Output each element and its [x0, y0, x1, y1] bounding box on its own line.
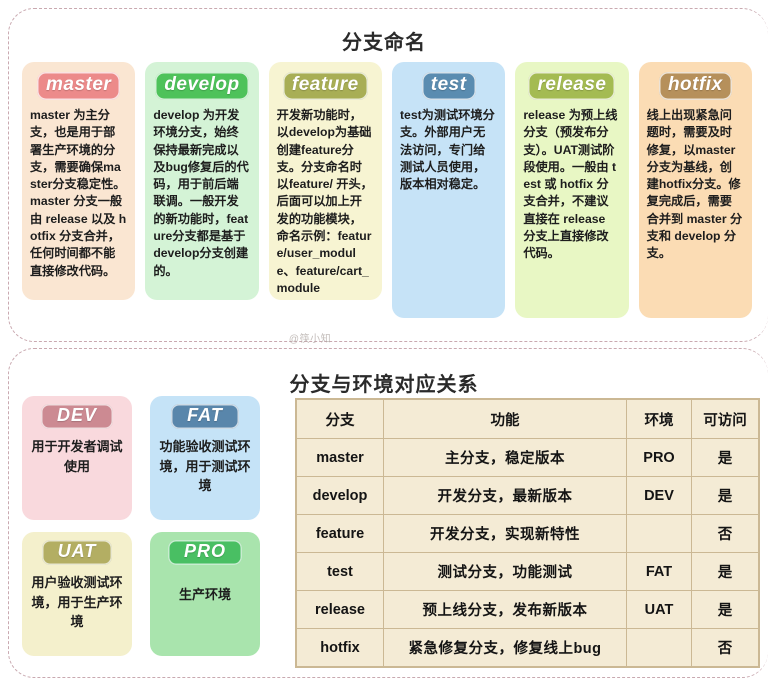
branch-card-test: testtest为测试环境分支。外部用户无法访问，专门给测试人员使用，版本相对稳…: [392, 62, 505, 318]
table-header-function: 功能: [384, 400, 627, 439]
watermark: @筷小知: [0, 330, 620, 345]
branch-badge-hotfix: hotfix: [659, 72, 732, 100]
environment-card-PRO: PRO生产环境: [150, 532, 260, 656]
page-title-branch-naming: 分支命名: [0, 26, 768, 55]
table-cell-branch: test: [297, 553, 384, 591]
table-cell-accessible: 是: [692, 477, 759, 515]
table-cell-function: 主分支，稳定版本: [384, 439, 627, 477]
table-header-row: 分支功能环境可访问: [297, 400, 759, 439]
table-cell-env: [627, 515, 692, 553]
table-cell-accessible: 否: [692, 629, 759, 667]
table-cell-accessible: 是: [692, 439, 759, 477]
table-body: master主分支，稳定版本PRO是develop开发分支，最新版本DEV是fe…: [297, 439, 759, 667]
branch-card-develop: developdevelop 为开发环境分支，始终保持最新完成以及bug修复后的…: [145, 62, 258, 300]
environment-badge-PRO: PRO: [168, 540, 242, 565]
branch-badge-wrap-feature: feature: [277, 72, 374, 107]
branch-environment-table: 分支功能环境可访问 master主分支，稳定版本PRO是develop开发分支，…: [296, 399, 759, 667]
branch-card-master: mastermaster 为主分支，也是用于部署生产环境的分支，需要确保mast…: [22, 62, 135, 300]
branch-badge-wrap-hotfix: hotfix: [647, 72, 744, 107]
environment-badge-FAT: FAT: [171, 404, 239, 429]
branch-badge-wrap-develop: develop: [153, 72, 250, 107]
branch-badge-master: master: [37, 72, 120, 100]
table-cell-env: FAT: [627, 553, 692, 591]
table-cell-env: PRO: [627, 439, 692, 477]
table-cell-env: [627, 629, 692, 667]
branch-badge-wrap-master: master: [30, 72, 127, 107]
branch-badge-release: release: [528, 72, 615, 100]
table-cell-function: 紧急修复分支，修复线上bug: [384, 629, 627, 667]
table-cell-function: 预上线分支，发布新版本: [384, 591, 627, 629]
branch-card-row: mastermaster 为主分支，也是用于部署生产环境的分支，需要确保mast…: [22, 62, 752, 318]
environment-description-FAT: 功能验收测试环境，用于测试环境: [156, 437, 254, 496]
table-cell-branch: hotfix: [297, 629, 384, 667]
table-cell-function: 开发分支，最新版本: [384, 477, 627, 515]
branch-card-feature: feature开发新功能时，以develop为基础创建feature分支。分支命…: [269, 62, 382, 300]
branch-badge-wrap-release: release: [523, 72, 620, 107]
table-row: hotfix紧急修复分支，修复线上bug否: [297, 629, 759, 667]
table-cell-accessible: 否: [692, 515, 759, 553]
branch-card-release: releaserelease 为预上线分支（预发布分支）。UAT测试阶段使用。一…: [515, 62, 628, 318]
branch-badge-feature: feature: [283, 72, 368, 100]
table-cell-branch: develop: [297, 477, 384, 515]
environment-card-FAT: FAT功能验收测试环境，用于测试环境: [150, 396, 260, 520]
environment-description-UAT: 用户验收测试环境，用于生产环境: [28, 573, 126, 632]
table-header-accessible: 可访问: [692, 400, 759, 439]
table-cell-branch: feature: [297, 515, 384, 553]
environment-card-UAT: UAT用户验收测试环境，用于生产环境: [22, 532, 132, 656]
branch-description-feature: 开发新功能时，以develop为基础创建feature分支。分支命名时以feat…: [277, 107, 374, 298]
branch-description-release: release 为预上线分支（预发布分支）。UAT测试阶段使用。一般由 test…: [523, 107, 620, 263]
table-cell-accessible: 是: [692, 553, 759, 591]
table-cell-function: 测试分支，功能测试: [384, 553, 627, 591]
table-row: test测试分支，功能测试FAT是: [297, 553, 759, 591]
branch-description-hotfix: 线上出现紧急问题时，需要及时修复，以master分支为基线，创建hotfix分支…: [647, 107, 744, 263]
branch-description-master: master 为主分支，也是用于部署生产环境的分支，需要确保master分支稳定…: [30, 107, 127, 280]
page-title-branch-environment: 分支与环境对应关系: [0, 368, 768, 397]
table-cell-env: DEV: [627, 477, 692, 515]
branch-description-test: test为测试环境分支。外部用户无法访问，专门给测试人员使用，版本相对稳定。: [400, 107, 497, 194]
table-row: release预上线分支，发布新版本UAT是: [297, 591, 759, 629]
environment-card-grid: DEV用于开发者调试使用FAT功能验收测试环境，用于测试环境UAT用户验收测试环…: [22, 396, 284, 660]
environment-badge-wrap-FAT: FAT: [156, 404, 254, 437]
environment-badge-wrap-UAT: UAT: [28, 540, 126, 573]
environment-badge-wrap-DEV: DEV: [28, 404, 126, 437]
table-header-branch: 分支: [297, 400, 384, 439]
table-cell-accessible: 是: [692, 591, 759, 629]
environment-badge-UAT: UAT: [42, 540, 113, 565]
environment-description-DEV: 用于开发者调试使用: [28, 437, 126, 476]
environment-badge-DEV: DEV: [41, 404, 113, 429]
environment-badge-wrap-PRO: PRO: [156, 540, 254, 573]
branch-badge-test: test: [422, 72, 476, 100]
table-cell-branch: release: [297, 591, 384, 629]
branch-card-hotfix: hotfix线上出现紧急问题时，需要及时修复，以master分支为基线，创建ho…: [639, 62, 752, 318]
environment-card-DEV: DEV用于开发者调试使用: [22, 396, 132, 520]
table-row: feature开发分支，实现新特性否: [297, 515, 759, 553]
table-cell-branch: master: [297, 439, 384, 477]
environment-description-PRO: 生产环境: [156, 573, 254, 605]
table-header: 分支功能环境可访问: [297, 400, 759, 439]
table-row: master主分支，稳定版本PRO是: [297, 439, 759, 477]
table-cell-env: UAT: [627, 591, 692, 629]
table-row: develop开发分支，最新版本DEV是: [297, 477, 759, 515]
table-header-env: 环境: [627, 400, 692, 439]
table-cell-function: 开发分支，实现新特性: [384, 515, 627, 553]
branch-description-develop: develop 为开发环境分支，始终保持最新完成以及bug修复后的代码，用于前后…: [153, 107, 250, 280]
branch-badge-develop: develop: [155, 72, 248, 100]
branch-badge-wrap-test: test: [400, 72, 497, 107]
